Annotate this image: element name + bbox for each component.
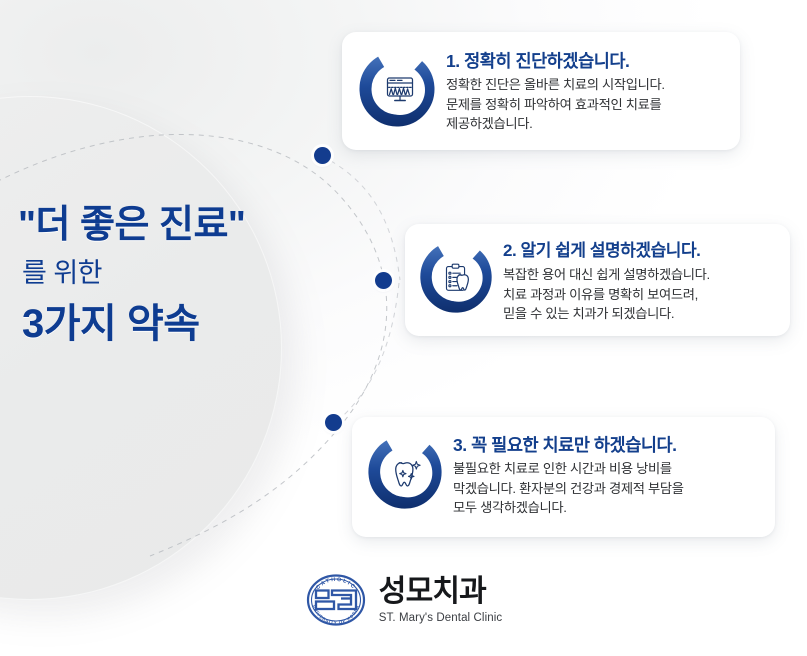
body-line: 믿을 수 있는 치과가 되겠습니다. <box>503 304 776 324</box>
promise-card-2[interactable]: 2. 알기 쉽게 설명하겠습니다. 복잡한 용어 대신 쉽게 설명하겠습니다. … <box>405 224 790 336</box>
promise-card-1-title: 1. 정확히 진단하겠습니다. <box>446 50 724 72</box>
promise-card-1-body: 정확한 진단은 올바른 치료의 시작입니다. 문제를 정확히 파악하여 효과적인… <box>446 75 724 134</box>
headline-line-1: "더 좋은 진료" <box>18 200 328 250</box>
headline-line-2: 를 위한 <box>22 250 328 296</box>
crest-bottom-text: UNIVERSITY OF KOREA <box>312 604 360 625</box>
headline-line-3: 3가지 약속 <box>22 296 328 352</box>
connector-dot-1 <box>314 147 331 164</box>
connector-dot-3 <box>325 414 342 431</box>
promise-card-1-text: 1. 정확히 진단하겠습니다. 정확한 진단은 올바른 치료의 시작입니다. 문… <box>446 46 724 134</box>
brand-footer: CATHOLIC UNIVERSITY OF KOREA 성모치과 ST. Ma… <box>0 572 807 628</box>
body-line: 치료 과정과 이유를 명확히 보여드려, <box>503 285 776 305</box>
promise-card-1[interactable]: 1. 정확히 진단하겠습니다. 정확한 진단은 올바른 치료의 시작입니다. 문… <box>342 32 740 150</box>
promise-card-2-title: 2. 알기 쉽게 설명하겠습니다. <box>503 240 776 262</box>
promise-card-3-body: 불필요한 치료로 인한 시간과 비용 낭비를 막겠습니다. 환자분의 건강과 경… <box>453 459 760 518</box>
body-line: 문제를 정확히 파악하여 효과적인 치료를 <box>446 95 724 115</box>
body-line: 복잡한 용어 대신 쉽게 설명하겠습니다. <box>503 265 776 285</box>
infographic-canvas: "더 좋은 진료" 를 위한 3가지 약속 <box>0 0 807 656</box>
brand-name-block: 성모치과 ST. Mary's Dental Clinic <box>379 575 502 626</box>
svg-text:UNIVERSITY OF KOREA: UNIVERSITY OF KOREA <box>312 604 360 625</box>
headline-block: "더 좋은 진료" 를 위한 3가지 약속 <box>18 200 328 352</box>
body-line: 모두 생각하겠습니다. <box>453 498 760 518</box>
sparkle-tooth-icon <box>365 432 445 512</box>
clipboard-tooth-icon <box>417 238 495 316</box>
promise-card-2-body: 복잡한 용어 대신 쉽게 설명하겠습니다. 치료 과정과 이유를 명확히 보여드… <box>503 265 776 324</box>
promise-card-3-title: 3. 꼭 필요한 치료만 하겠습니다. <box>453 434 760 456</box>
catholic-university-crest-icon: CATHOLIC UNIVERSITY OF KOREA <box>305 572 367 628</box>
body-line: 막겠습니다. 환자분의 건강과 경제적 부담을 <box>453 479 760 499</box>
promise-card-3-text: 3. 꼭 필요한 치료만 하겠습니다. 불필요한 치료로 인한 시간과 비용 낭… <box>453 430 760 518</box>
promise-card-2-text: 2. 알기 쉽게 설명하겠습니다. 복잡한 용어 대신 쉽게 설명하겠습니다. … <box>503 236 776 324</box>
brand-name-english: ST. Mary's Dental Clinic <box>379 611 502 626</box>
body-line: 정확한 진단은 올바른 치료의 시작입니다. <box>446 75 724 95</box>
brand-name-korean: 성모치과 <box>379 575 502 609</box>
body-line: 제공하겠습니다. <box>446 114 724 134</box>
monitor-xray-icon <box>356 48 438 130</box>
promise-card-3[interactable]: 3. 꼭 필요한 치료만 하겠습니다. 불필요한 치료로 인한 시간과 비용 낭… <box>352 417 775 537</box>
connector-dot-2 <box>375 272 392 289</box>
body-line: 불필요한 치료로 인한 시간과 비용 낭비를 <box>453 459 760 479</box>
